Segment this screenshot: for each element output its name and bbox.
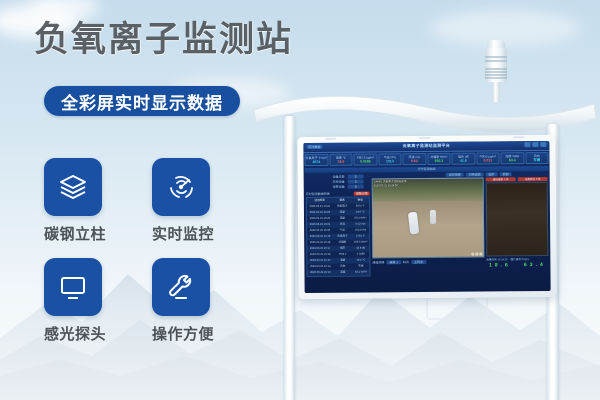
device-stats: 设备总数3在线设备3报警设备0 <box>306 174 370 189</box>
feature-label: 操作方便 <box>152 323 214 344</box>
channel-label: 通道选择 <box>372 260 384 264</box>
fullscreen-icon[interactable] <box>479 253 482 256</box>
metric-card[interactable]: PM2.5 μg/m³0.0286 <box>354 153 378 165</box>
device-stat-row: 设备总数3 <box>306 175 364 180</box>
signal-icon <box>524 142 530 147</box>
device-stat-value: 0 <box>348 185 364 189</box>
metric-value: 0.031 <box>477 158 499 162</box>
tab-capture[interactable]: 抓拍 <box>500 172 512 176</box>
screen-stand <box>426 296 488 320</box>
device-stat-row: 在线设备3 <box>306 180 364 185</box>
feature-item-easy-operation[interactable]: 操作方便 <box>152 258 214 344</box>
subtitle-badge: 全彩屏实时显示数据 <box>44 86 240 116</box>
table-cell: 湿度 <box>334 270 351 276</box>
feature-item-light-sensor[interactable]: 感光探头 <box>44 258 106 344</box>
feature-tile[interactable] <box>152 158 210 216</box>
feature-item-steel-pole[interactable]: 碳钢立柱 <box>44 158 106 244</box>
metric-card[interactable]: PM10 μg/m³0.031 <box>476 152 500 164</box>
monitor-icon <box>57 271 89 303</box>
capture-meta: 采集时间 10:24:36 图片编号 00231 <box>486 257 548 262</box>
metric-value: 63.4 <box>502 158 524 162</box>
metric-card[interactable]: 湿度 %RH63.4 <box>501 152 525 164</box>
feature-tile[interactable] <box>152 258 210 316</box>
device-stat-value: 3 <box>348 180 364 184</box>
feature-list: 碳钢立柱 实时监控 <box>44 158 259 358</box>
metric-card[interactable]: 噪声 dB42.8 <box>452 153 476 165</box>
page-title: 负氧离子监测站 <box>34 22 293 57</box>
metric-card[interactable]: 温度 ℃18.6 <box>329 154 353 166</box>
device-stat-label: 设备总数 <box>333 175 345 179</box>
metric-card[interactable]: 风向东南 <box>525 152 549 164</box>
chart-strip-label: 实时监测曲线 <box>418 167 436 171</box>
metric-card[interactable]: 气压 hPa1013 <box>378 153 402 165</box>
radar-icon <box>165 171 197 203</box>
stream-label: 码流 <box>403 260 409 264</box>
wifi-icon <box>532 142 538 147</box>
metric-value: 106.3 <box>428 159 450 163</box>
metric-value: 东南 <box>526 158 548 162</box>
dashboard-tag: 实时数据 <box>306 145 322 149</box>
metric-card[interactable]: 总辐射 W/m²106.3 <box>427 153 451 165</box>
feature-tile[interactable] <box>44 258 102 316</box>
promo-banner: 实时数据 负氧离子监测站监测平台 负氧离子 个/cm³2674温度 ℃18.6P… <box>0 0 600 400</box>
table-header-bar: 实时监测数据列表 报警记录 <box>306 191 370 196</box>
channel-select[interactable]: 通道 1 <box>386 260 401 264</box>
capture-image[interactable] <box>486 182 549 257</box>
video-osd-line2: 2023-03-21 10:24:36 <box>374 184 398 188</box>
metric-value: 0.0286 <box>355 159 377 163</box>
alarm-item[interactable]: 超标报警 0 条 <box>486 177 516 181</box>
stream-select[interactable]: 主码流 <box>411 260 426 264</box>
feature-label: 实时监控 <box>152 223 214 244</box>
metric-value: 1013 <box>379 159 401 163</box>
video-toolbar-item[interactable]: 监控视频 <box>446 173 464 177</box>
device-stat-value: 3 <box>348 175 364 179</box>
readout-left: 18.6 <box>489 262 511 268</box>
alarm-summary: 超标报警 0 条 设备离线 0 条 <box>486 177 548 182</box>
display-screen-frame: 实时数据 负氧离子监测站监测平台 负氧离子 个/cm³2674温度 ℃18.6P… <box>297 135 556 299</box>
video-toolbar-item[interactable]: 切换通道 <box>466 173 484 177</box>
data-table[interactable]: 监测时间要素数值2023-03-21 10:24负氧离子2674 个2023-0… <box>306 196 371 277</box>
device-stat-label: 在线设备 <box>333 180 345 184</box>
dashboard-screen[interactable]: 实时数据 负氧离子监测站监测平台 负氧离子 个/cm³2674温度 ℃18.6P… <box>303 141 550 293</box>
metric-card[interactable]: 负氧离子 个/cm³2674 <box>304 154 328 166</box>
metric-value: 42.8 <box>453 159 475 163</box>
dashboard-status-icons <box>524 142 546 147</box>
capture-time: 采集时间 10:24:36 <box>486 257 507 261</box>
layers-icon <box>57 171 89 203</box>
support-post-left <box>284 116 295 400</box>
feature-item-realtime-monitor[interactable]: 实时监控 <box>152 158 214 244</box>
right-panel-tabs: 图片 抓拍 <box>486 172 548 177</box>
feature-label: 碳钢立柱 <box>44 223 106 244</box>
right-panel: 图片 抓拍 超标报警 0 条 设备离线 0 条 采集时间 10:24:36 图片… <box>486 172 549 285</box>
readout-right: 63.4 <box>524 262 546 268</box>
metric-value: 2674 <box>305 160 327 164</box>
metric-card-row: 负氧离子 个/cm³2674温度 ℃18.6PM2.5 μg/m³0.0286气… <box>303 151 549 167</box>
camera-feed[interactable]: CAM01 负氧离子监测站前场 2023-03-21 10:24:36 <box>372 178 485 259</box>
metric-card[interactable]: 风速 m/s0.52 <box>403 153 427 165</box>
table-cell: 2023-03-21 10:13 <box>307 270 333 276</box>
feature-tile[interactable] <box>44 158 102 216</box>
feature-label: 感光探头 <box>44 323 106 344</box>
device-stat-label: 报警设备 <box>333 185 345 189</box>
metric-value: 0.52 <box>404 159 426 163</box>
table-row[interactable]: 2023-03-21 10:13湿度63.1 %RH <box>307 270 369 277</box>
snapshot-icon[interactable] <box>475 253 478 256</box>
tab-image[interactable]: 图片 <box>486 172 498 176</box>
alarm-item[interactable]: 设备离线 0 条 <box>518 177 548 181</box>
monitoring-station: 实时数据 负氧离子监测站监测平台 负氧离子 个/cm³2674温度 ℃18.6P… <box>250 38 600 400</box>
video-controls[interactable] <box>471 253 482 256</box>
left-panel: 设备总数3在线设备3报警设备0 实时监测数据列表 报警记录 监测时间要素数值20… <box>306 173 371 286</box>
capture-id: 图片编号 00231 <box>511 257 529 261</box>
table-title: 实时监测数据列表 <box>306 192 330 196</box>
dashboard-title: 负氧离子监测站监测平台 <box>403 143 450 149</box>
metric-value: 18.6 <box>330 160 352 164</box>
menu-icon[interactable] <box>540 142 546 147</box>
video-footer: 通道选择 通道 1 码流 主码流 <box>372 260 484 265</box>
device-stat-row: 报警设备0 <box>306 185 364 190</box>
video-subject <box>408 211 419 234</box>
video-panel: 监控视频 切换通道 CAM01 负氧离子监测站前场 2023-03-21 10:… <box>372 173 485 286</box>
alarm-tag[interactable]: 报警记录 <box>354 191 370 195</box>
dashboard-header: 实时数据 负氧离子监测站监测平台 <box>303 141 549 153</box>
video-subject <box>430 210 436 224</box>
table-cell: 63.1 %RH <box>352 270 369 276</box>
readout-values: 18.6 63.4 <box>486 262 548 269</box>
wrench-icon <box>165 271 197 303</box>
play-icon[interactable] <box>471 253 474 256</box>
